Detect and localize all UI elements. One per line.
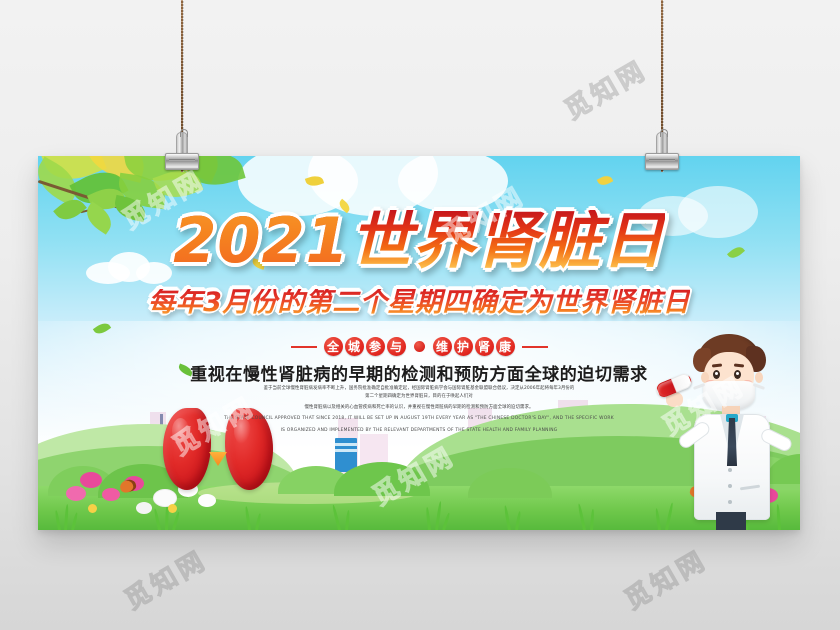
- title-main: 世界肾脏日: [350, 204, 665, 277]
- coat-button-2: [728, 484, 732, 488]
- tagline-dash-left: [291, 346, 317, 348]
- tagline-char: 维: [433, 337, 452, 356]
- kidney-connector-icon: [209, 452, 227, 466]
- binder-clip-left: [165, 132, 199, 170]
- tagline-char: 城: [345, 337, 364, 356]
- poster-title: 2021世界肾脏日: [173, 210, 665, 272]
- cartoon-doctor-illustration: [668, 326, 796, 530]
- doctor-eye-right: [734, 370, 741, 379]
- tagline-separator-dot: [414, 341, 425, 352]
- doctor-eye-left: [713, 370, 720, 379]
- clip-body-icon: [165, 153, 199, 170]
- coat-pocket: [740, 485, 760, 491]
- tagline-char: 肾: [475, 337, 494, 356]
- floating-leaf-5: [597, 173, 614, 188]
- tagline-chars-group-1: 全 城 参 与: [324, 337, 406, 356]
- coat-button-3: [728, 500, 732, 504]
- watermark: 觅知网: [557, 50, 653, 127]
- coat-button-1: [728, 468, 732, 472]
- poster-subtitle: 每年3月份的第二个星期四确定为世界肾脏日: [148, 289, 690, 316]
- poster-subtitle-wrap: 每年3月份的第二个星期四确定为世界肾脏日: [38, 289, 800, 316]
- title-year: 2021: [173, 204, 350, 277]
- poster-board: 2021世界肾脏日 每年3月份的第二个星期四确定为世界肾脏日 全 城 参 与 维…: [38, 156, 800, 530]
- tagline-char: 护: [454, 337, 473, 356]
- watermark: 觅知网: [117, 540, 213, 617]
- tagline-char: 全: [324, 337, 343, 356]
- doctor-trousers: [716, 512, 746, 530]
- tagline-char: 参: [366, 337, 385, 356]
- poster-title-wrap: 2021世界肾脏日: [38, 210, 800, 272]
- clip-body-icon: [645, 153, 679, 170]
- watermark: 觅知网: [617, 540, 713, 617]
- tagline-dash-right: [522, 346, 548, 348]
- tagline-char: 康: [496, 337, 515, 356]
- binder-clip-right: [645, 132, 679, 170]
- tagline-chars-group-2: 维 护 肾 康: [433, 337, 515, 356]
- doctor-ear-right: [755, 372, 763, 383]
- tagline-char: 与: [387, 337, 406, 356]
